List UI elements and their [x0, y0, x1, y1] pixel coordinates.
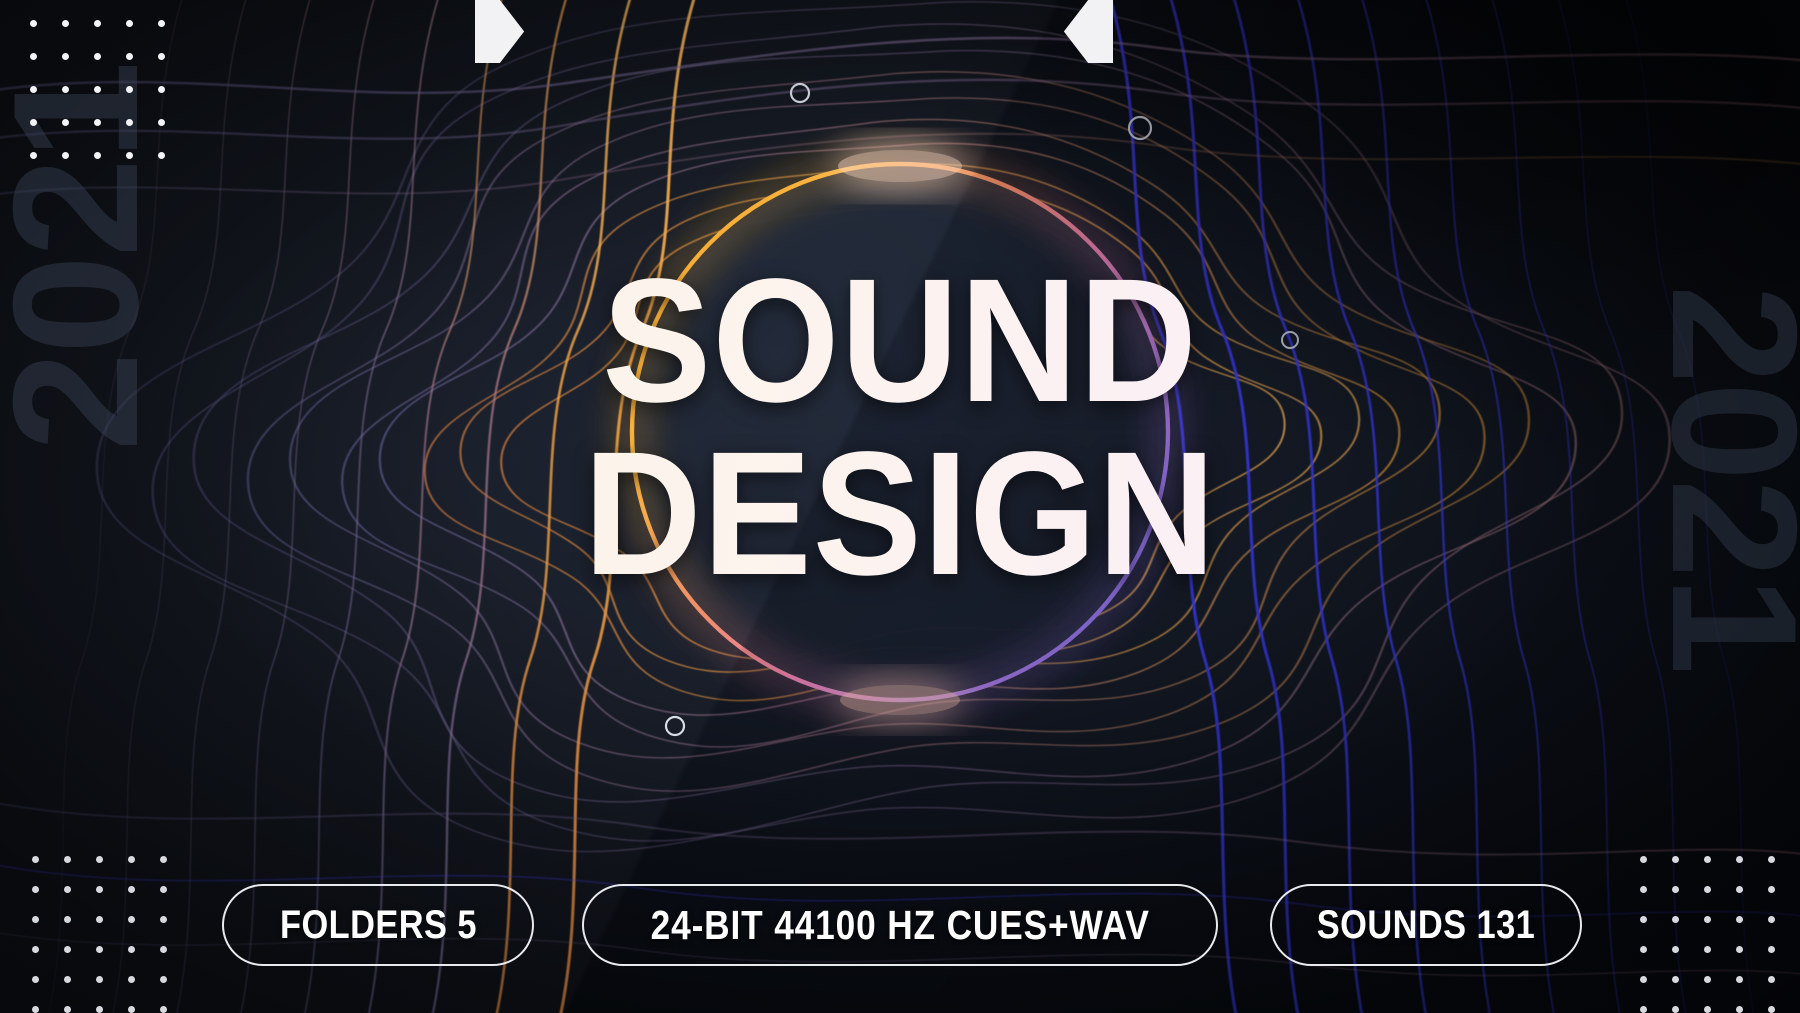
year-watermark-right: 2021 [1645, 285, 1800, 673]
dot-grid-bottom-left [32, 856, 192, 1013]
dot-grid-top-left [30, 20, 190, 185]
badge-sounds-label: SOUNDS 131 [1317, 903, 1535, 948]
contour-lines-layer [0, 0, 1800, 1013]
ring-marker-icon [666, 717, 684, 735]
badge-folders-label: FOLDERS 5 [280, 903, 477, 948]
badge-folders[interactable]: FOLDERS 5 [222, 884, 534, 966]
badge-sounds[interactable]: SOUNDS 131 [1270, 884, 1582, 966]
badge-specs-label: 24-BIT 44100 HZ CUES+WAV [650, 902, 1149, 949]
dot-grid-bottom-right [1640, 856, 1800, 1013]
ring-marker-icon [791, 84, 809, 102]
poster-canvas: 2021 2021 SOUND DESIGN TOOLS BUNDLE SOUN… [0, 0, 1800, 1013]
badge-specs[interactable]: 24-BIT 44100 HZ CUES+WAV [582, 884, 1218, 966]
